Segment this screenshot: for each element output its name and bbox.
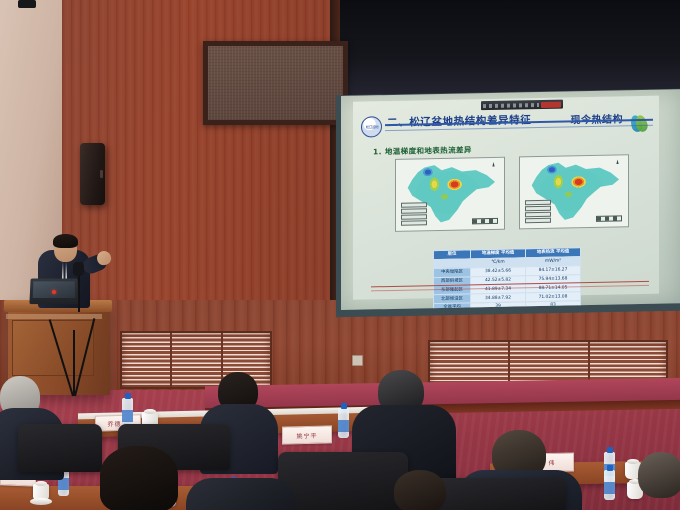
microphone-head — [73, 262, 84, 276]
map-legend — [525, 200, 551, 224]
name-placard: 姚宁平 — [282, 425, 332, 444]
north-arrow-icon — [615, 159, 620, 169]
wall-mounted-loudspeaker — [80, 143, 105, 205]
water-bottle — [338, 408, 349, 438]
map-geothermal-gradient: 地温梯度 — [395, 157, 505, 232]
institution-seal-icon: 松辽盆地 — [361, 116, 382, 137]
conference-photo: 松辽盆地 二、松辽盆地热结构差异特征 现今热结构 1. 地温梯度和地表热流差异 … — [0, 0, 680, 510]
map-caption: 地温梯度 — [396, 231, 504, 232]
map-scale-bar — [596, 215, 622, 222]
conference-chair[interactable] — [18, 424, 102, 472]
saucer — [30, 498, 52, 505]
map-surface-heat-flow: 地表热流 — [519, 154, 629, 229]
camera-tripod — [48, 310, 100, 396]
acoustic-wall-panel — [203, 41, 348, 125]
slide-header: 松辽盆地 二、松辽盆地热结构差异特征 现今热结构 — [359, 110, 653, 142]
audience-head-long-hair — [100, 446, 178, 510]
laptop-indicator-light-icon — [52, 290, 56, 294]
map-scale-bar — [472, 218, 498, 225]
power-socket — [352, 355, 363, 366]
north-arrow-icon — [491, 162, 496, 172]
toolbar-icons — [483, 103, 539, 108]
water-bottle — [604, 470, 615, 500]
audience-torso — [186, 478, 296, 510]
toolbar-record-button[interactable] — [541, 101, 561, 107]
oilfield-droplet-logo-icon — [630, 109, 652, 133]
presenter-hair — [53, 234, 78, 248]
audience-head — [638, 452, 680, 498]
slide-floating-toolbar[interactable] — [481, 100, 563, 111]
thermal-data-table: 层位 地温梯度 平均值 地表热流 平均值 ℃/km mW/m² 中央坳陷区 38… — [433, 247, 581, 310]
slide-subtitle: 1. 地温梯度和地表热流差异 — [373, 144, 472, 157]
map-legend — [401, 203, 427, 227]
audience-head — [394, 470, 446, 510]
map-caption: 地表热流 — [520, 228, 628, 229]
map-figure-group: 地温梯度 地表热流 — [387, 154, 637, 237]
presentation-slide: 松辽盆地 二、松辽盆地热结构差异特征 现今热结构 1. 地温梯度和地表热流差异 … — [353, 96, 659, 300]
seal-text: 松辽盆地 — [365, 125, 378, 129]
tripod-head — [18, 0, 36, 8]
conference-chair[interactable] — [278, 452, 408, 510]
projection-screen: 松辽盆地 二、松辽盆地热结构差异特征 现今热结构 1. 地温梯度和地表热流差异 … — [341, 89, 680, 310]
slide-corner-label: 现今热结构 — [571, 110, 624, 126]
dark-upper-wall — [330, 0, 680, 96]
